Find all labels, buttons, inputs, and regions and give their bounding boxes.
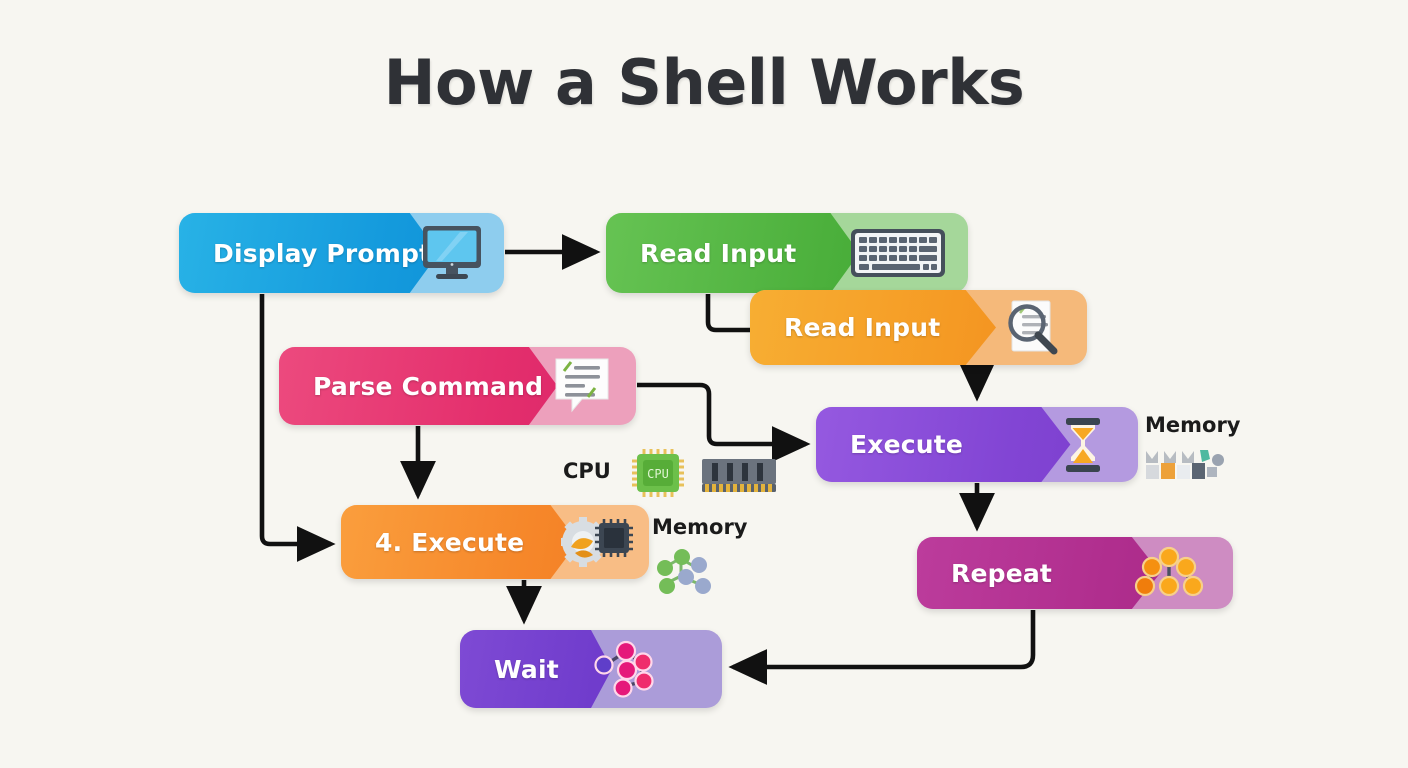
node-read-input-orange[interactable]: Read Input xyxy=(750,290,1087,365)
memory-label-mid: Memory xyxy=(652,515,748,539)
memory-label-right: Memory xyxy=(1145,413,1241,437)
svg-text:CPU: CPU xyxy=(647,467,669,481)
node-repeat[interactable]: Repeat xyxy=(917,537,1233,609)
cpu-label: CPU xyxy=(563,459,611,483)
node-read-input-green[interactable]: Read Input xyxy=(606,213,968,293)
monitor-icon xyxy=(414,213,490,293)
node-label: Execute xyxy=(816,407,963,482)
cpu-chip-icon: CPU xyxy=(630,447,686,504)
hourglass-icon xyxy=(1054,407,1112,482)
page-title: How a Shell Works xyxy=(0,46,1408,119)
node-label: Parse Command xyxy=(279,347,543,425)
node-label: Read Input xyxy=(606,213,796,293)
memory-nodes-icon xyxy=(655,548,719,607)
diagram-canvas: How a Shell Works xyxy=(0,0,1408,768)
node-label: Display Prompt xyxy=(179,213,431,293)
magnifier-document-icon xyxy=(995,290,1071,365)
keyboard-icon xyxy=(848,213,948,293)
node-execute-orange[interactable]: 4. Execute xyxy=(341,505,649,579)
connector-repeat-to-wait xyxy=(733,610,1033,667)
connector-parse-command-to-execute-purple xyxy=(637,385,806,444)
node-display-prompt[interactable]: Display Prompt xyxy=(179,213,504,293)
ram-stick-icon xyxy=(700,455,778,502)
node-wait[interactable]: Wait xyxy=(460,630,722,708)
node-label: Read Input xyxy=(750,290,940,365)
node-label: Wait xyxy=(460,630,559,708)
gear-chip-icon xyxy=(557,505,637,579)
memory-blocks-icon xyxy=(1142,447,1230,494)
node-label: Repeat xyxy=(917,537,1052,609)
node-execute-purple[interactable]: Execute xyxy=(816,407,1138,482)
node-parse-command[interactable]: Parse Command xyxy=(279,347,636,425)
pink-node-graph-icon xyxy=(584,630,670,708)
node-label: 4. Execute xyxy=(341,505,524,579)
connector-read-input-to-read-input-orange xyxy=(708,294,750,330)
speech-document-icon xyxy=(546,347,618,425)
orange-node-cluster-icon xyxy=(1129,537,1209,609)
